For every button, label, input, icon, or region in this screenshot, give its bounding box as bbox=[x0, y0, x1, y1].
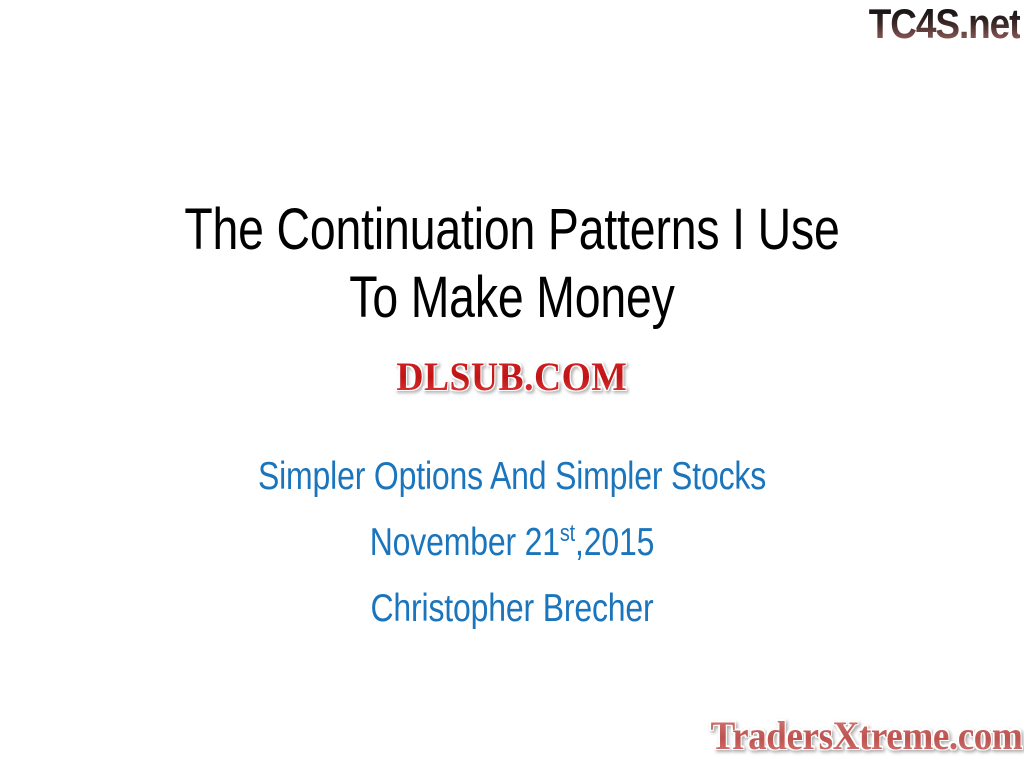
page-title: The Continuation Patterns I Use To Make … bbox=[0, 196, 1024, 332]
subtitle-date-prefix: November 21 bbox=[370, 521, 560, 564]
presentation-title-slide: TC4S.net The Continuation Patterns I Use… bbox=[0, 0, 1024, 768]
tc4s-watermark-logo: TC4S.net bbox=[868, 2, 1020, 46]
subtitle-group: Simpler Options And Simpler Stocks Novem… bbox=[0, 444, 1024, 642]
subtitle-company: Simpler Options And Simpler Stocks bbox=[92, 444, 932, 510]
subtitle-date-ordinal: st bbox=[560, 520, 575, 547]
subtitle-presenter: Christopher Brecher bbox=[92, 576, 932, 642]
dlsub-watermark-logo: DLSUB.COM bbox=[397, 356, 628, 398]
title-line-1: The Continuation Patterns I Use bbox=[102, 196, 921, 264]
dlsub-watermark-container: DLSUB.COM bbox=[0, 356, 1024, 402]
subtitle-date: November 21st,2015 bbox=[92, 510, 932, 576]
subtitle-date-suffix: ,2015 bbox=[575, 521, 654, 564]
tradersxtreme-watermark-logo: TradersXtreme.com bbox=[710, 714, 1022, 758]
title-line-2: To Make Money bbox=[102, 264, 921, 332]
